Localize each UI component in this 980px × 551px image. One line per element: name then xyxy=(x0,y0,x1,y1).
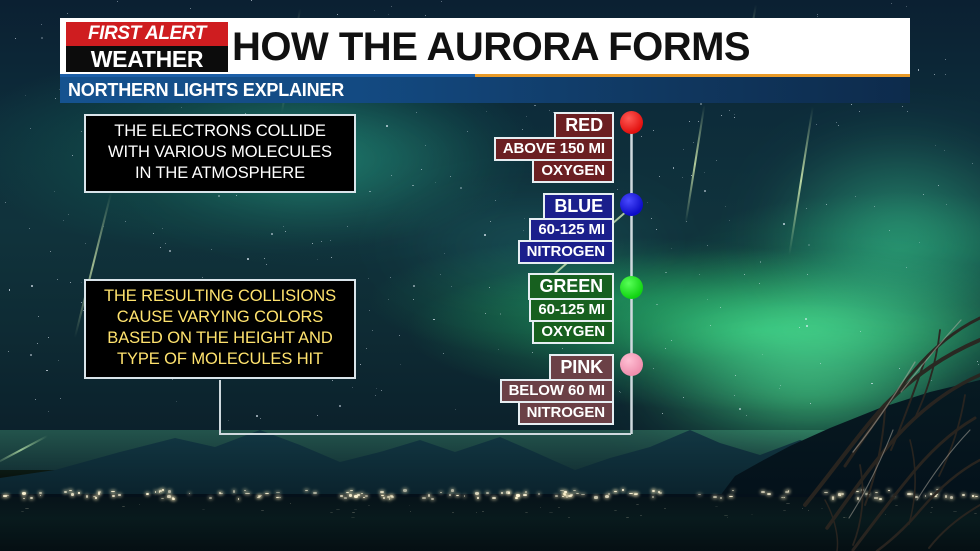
header-bar: FIRST ALERT WEATHER HOW THE AURORA FORMS xyxy=(60,18,910,76)
logo-first-alert: FIRST ALERT xyxy=(66,22,228,46)
layer-group-red: RED ABOVE 150 MI OXYGEN xyxy=(414,112,614,183)
callout-line: IN THE ATMOSPHERE xyxy=(96,163,344,184)
layer-altitude-label: 60-125 MI xyxy=(529,298,614,322)
first-alert-weather-logo: FIRST ALERT WEATHER xyxy=(66,22,228,72)
layer-dot-pink xyxy=(620,353,643,376)
layer-molecule-label: OXYGEN xyxy=(532,159,614,183)
layer-color-label: GREEN xyxy=(528,273,614,300)
logo-weather: WEATHER xyxy=(66,46,228,72)
layer-molecule-label: NITROGEN xyxy=(518,240,614,264)
callout-line: CAUSE VARYING COLORS xyxy=(96,307,344,328)
callout-electrons: THE ELECTRONS COLLIDE WITH VARIOUS MOLEC… xyxy=(84,114,356,193)
callout-collisions: THE RESULTING COLLISIONS CAUSE VARYING C… xyxy=(84,279,356,379)
callout-line: WITH VARIOUS MOLECULES xyxy=(96,142,344,163)
subtitle-text: NORTHERN LIGHTS EXPLAINER xyxy=(68,77,344,103)
layer-dot-blue xyxy=(620,193,643,216)
layer-altitude-label: 60-125 MI xyxy=(529,218,614,242)
layer-color-label: PINK xyxy=(549,354,614,381)
layer-color-label: BLUE xyxy=(543,193,614,220)
subtitle-bar: NORTHERN LIGHTS EXPLAINER xyxy=(60,77,910,103)
layer-altitude-label: BELOW 60 MI xyxy=(500,379,614,403)
layer-molecule-label: NITROGEN xyxy=(518,401,614,425)
layer-altitude-label: ABOVE 150 MI xyxy=(494,137,614,161)
callout-line: TYPE OF MOLECULES HIT xyxy=(96,349,344,370)
layer-group-green: GREEN 60-125 MI OXYGEN xyxy=(414,273,614,344)
callout-line: THE RESULTING COLLISIONS xyxy=(96,286,344,307)
callout-line: BASED ON THE HEIGHT AND xyxy=(96,328,344,349)
layer-dot-red xyxy=(620,111,643,134)
layer-group-pink: PINK BELOW 60 MI NITROGEN xyxy=(414,354,614,425)
page-title: HOW THE AURORA FORMS xyxy=(232,20,750,74)
layer-color-label: RED xyxy=(554,112,614,139)
layer-dot-green xyxy=(620,276,643,299)
layer-group-blue: BLUE 60-125 MI NITROGEN xyxy=(414,193,614,264)
callout-line: THE ELECTRONS COLLIDE xyxy=(96,121,344,142)
layer-molecule-label: OXYGEN xyxy=(532,320,614,344)
